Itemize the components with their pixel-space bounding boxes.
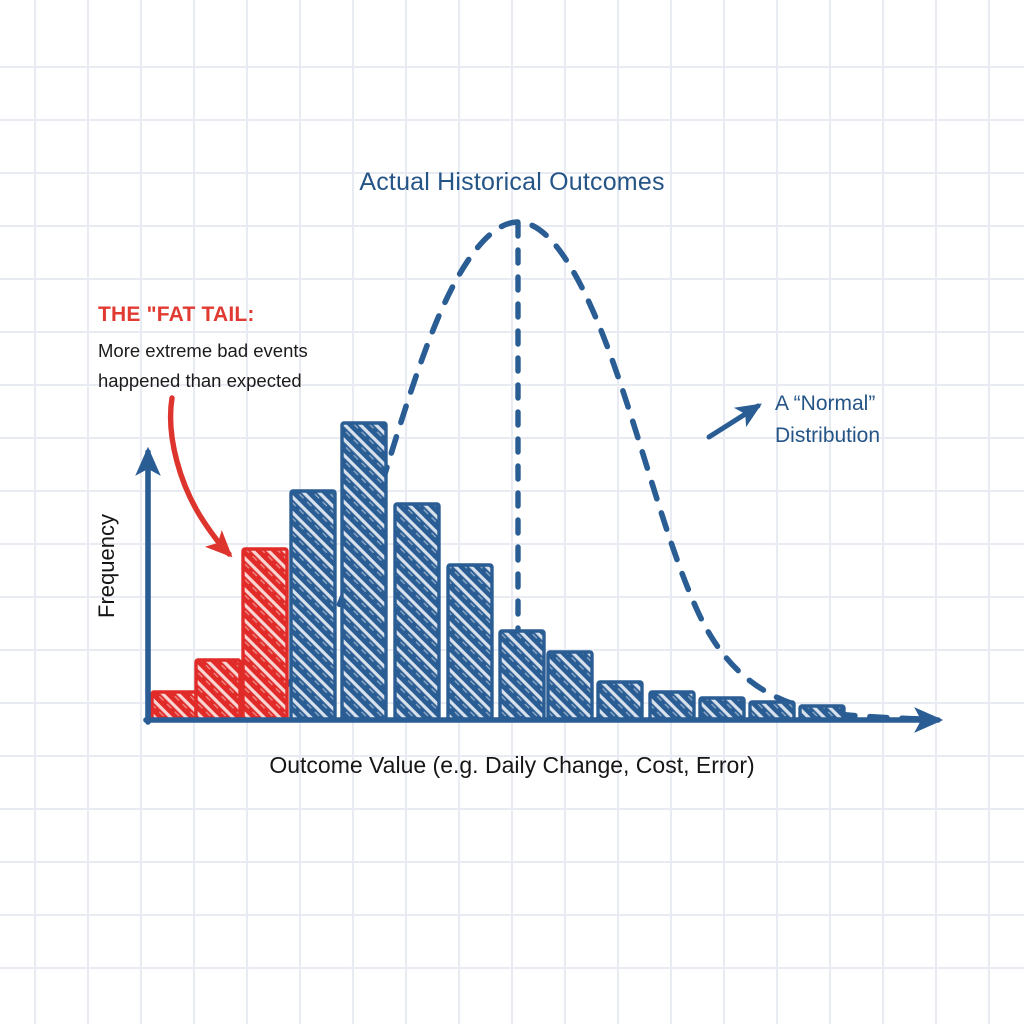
normal-distribution-label-line-2: Distribution xyxy=(775,424,880,448)
chart-svg xyxy=(0,0,1024,1024)
bar-11-blue xyxy=(650,692,694,720)
bar-9-blue xyxy=(548,652,592,720)
bar-8-blue xyxy=(500,631,544,720)
fat-tail-heading: THE "FAT TAIL: xyxy=(98,303,255,327)
histogram-bars xyxy=(152,423,844,720)
normal-distribution-pointer-arrow xyxy=(709,406,758,437)
diagram-canvas: Actual Historical Outcomes THE "FAT TAIL… xyxy=(0,0,1024,1024)
bar-10-blue xyxy=(598,682,642,720)
bar-6-blue xyxy=(395,504,439,720)
bar-2-red xyxy=(196,660,240,720)
bar-3-red xyxy=(243,549,287,720)
bar-12-blue xyxy=(700,698,744,720)
bar-1-red xyxy=(152,692,196,720)
chart-title: Actual Historical Outcomes xyxy=(0,168,1024,197)
x-axis-label: Outcome Value (e.g. Daily Change, Cost, … xyxy=(0,752,1024,779)
fat-tail-description-line-2: happened than expected xyxy=(98,370,302,392)
bar-5-blue xyxy=(342,423,386,720)
graph-paper-grid xyxy=(0,0,1024,1024)
fat-tail-callout-arrow xyxy=(171,398,229,554)
bar-7-blue xyxy=(448,565,492,720)
normal-distribution-label-line-1: A “Normal” xyxy=(775,392,875,416)
fat-tail-description-line-1: More extreme bad events xyxy=(98,340,308,362)
y-axis-label: Frequency xyxy=(94,456,120,676)
bar-4-blue xyxy=(291,491,335,720)
